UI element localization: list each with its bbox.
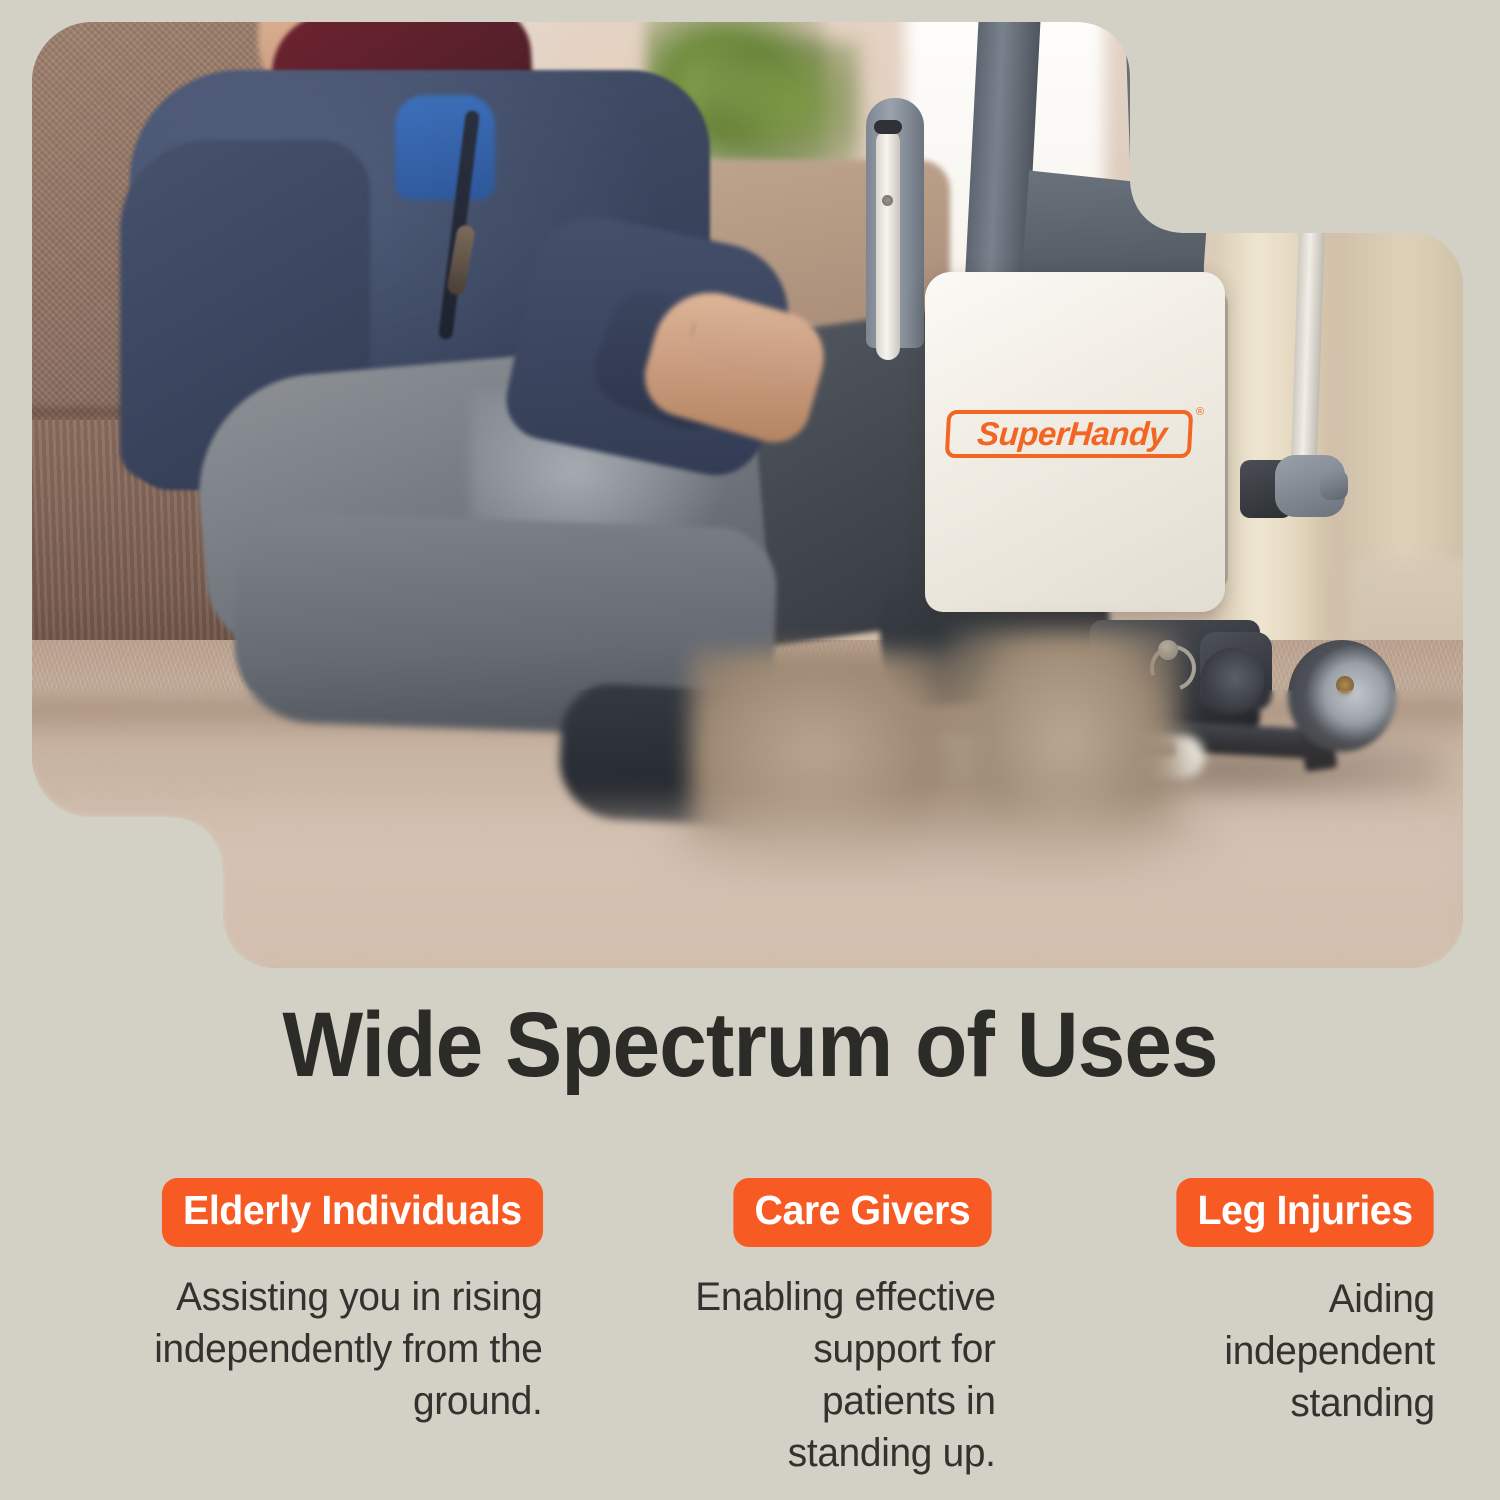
hero-photo-panel: SuperHandy ® [0,0,1470,975]
description-leg-injuries: Aiding independent standing [1120,1273,1435,1429]
description-elderly-individuals: Assisting you in rising independently fr… [89,1271,543,1427]
page-title: Wide Spectrum of Uses [53,995,1448,1095]
hero-photo-clip: SuperHandy ® [0,0,1470,975]
lift-adjust-knob-cap [1320,470,1348,500]
registered-trademark-icon: ® [1196,406,1204,418]
lift-handle-cap [874,120,902,134]
use-case-column-leg-injuries: Leg Injuries Aiding independent standing [1110,1178,1435,1429]
use-case-column-care-givers: Care Givers Enabling effective support f… [661,1178,996,1479]
hero-photo-scene: SuperHandy ® [0,0,1470,975]
lift-handle-bolt [882,195,893,206]
use-case-column-elderly: Elderly Individuals Assisting you in ris… [75,1178,543,1427]
curtain-right [1330,0,1470,650]
plant-foliage-secondary [700,40,860,180]
badge-care-givers[interactable]: Care Givers [734,1178,992,1247]
lift-handle-bar [876,130,900,360]
lift-wheel-small [1200,648,1264,714]
lift-caster-wheel [1288,640,1396,752]
badge-elderly-individuals[interactable]: Elderly Individuals [162,1178,543,1247]
blue-tshirt [395,95,495,200]
superhandy-logo: SuperHandy ® [938,404,1208,466]
logo-wordmark: SuperHandy [951,414,1194,454]
carpet-foreground-blur [0,790,1470,975]
lift-caster-hub-bolt [1336,676,1354,694]
description-care-givers: Enabling effective support for patients … [671,1271,996,1479]
badge-leg-injuries[interactable]: Leg Injuries [1176,1178,1433,1247]
use-case-columns: Elderly Individuals Assisting you in ris… [75,1178,1435,1479]
